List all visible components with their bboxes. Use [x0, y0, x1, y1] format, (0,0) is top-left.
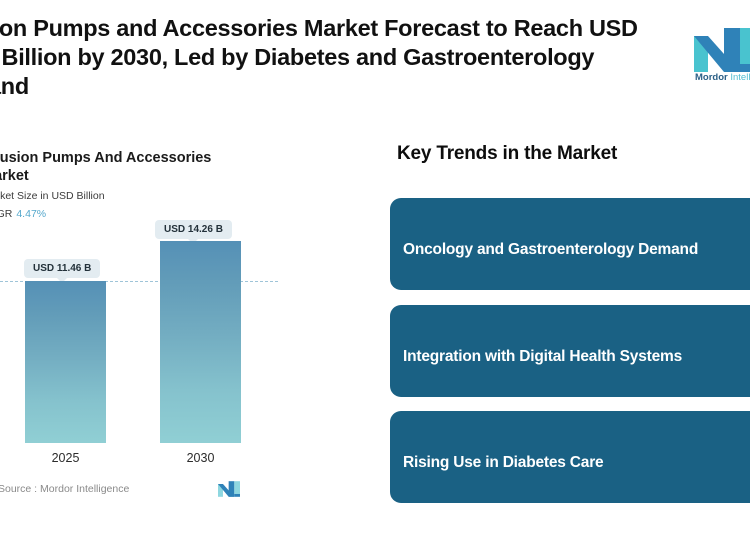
chart-subtitle: Market Size in USD Billion: [0, 190, 105, 202]
mordor-m-mark-icon: [694, 28, 750, 72]
chart-title: Infusion Pumps And Accessories Market: [0, 149, 242, 185]
source-mordor-m-mark-icon: [218, 481, 240, 497]
cagr-label: CAGR: [0, 208, 12, 220]
brand-name-secondary: Intelligence: [728, 72, 750, 83]
x-axis-tick-2030: 2030: [160, 451, 241, 465]
chart-cagr: CAGR4.47%: [0, 208, 46, 220]
bar-2030[interactable]: [160, 241, 241, 443]
cagr-value: 4.47%: [16, 208, 46, 220]
mordor-intelligence-logo: Mordor Intelligence: [694, 28, 750, 98]
trend-card-label: Rising Use in Diabetes Care: [403, 454, 750, 472]
key-trends-heading: Key Trends in the Market: [397, 143, 617, 165]
brand-name-primary: Mordor: [695, 72, 728, 83]
x-axis-tick-2025: 2025: [25, 451, 106, 465]
page-header: Infusion Pumps and Accessories Market Fo…: [0, 0, 750, 118]
bar-chart-plot-area: USD 11.46 B USD 14.26 B 2025 2030: [0, 235, 300, 470]
page-title: Infusion Pumps and Accessories Market Fo…: [0, 14, 668, 101]
trend-card-label: Oncology and Gastroenterology Demand: [403, 241, 750, 259]
key-trends-panel: Key Trends in the Market Oncology and Ga…: [390, 125, 750, 520]
market-size-chart-panel: Infusion Pumps And Accessories Market Ma…: [0, 125, 300, 520]
trend-card-digital-health[interactable]: Integration with Digital Health Systems: [390, 305, 750, 397]
bar-value-tooltip-2025: USD 11.46 B: [24, 259, 100, 278]
brand-wordmark: Mordor Intelligence: [695, 72, 750, 83]
trend-card-label: Integration with Digital Health Systems: [403, 348, 750, 366]
trend-card-oncology[interactable]: Oncology and Gastroenterology Demand: [390, 198, 750, 290]
chart-source-text: Source : Mordor Intelligence: [0, 483, 129, 495]
bar-2025[interactable]: [25, 281, 106, 443]
trend-card-diabetes-care[interactable]: Rising Use in Diabetes Care: [390, 411, 750, 503]
bar-value-tooltip-2030: USD 14.26 B: [155, 220, 232, 239]
